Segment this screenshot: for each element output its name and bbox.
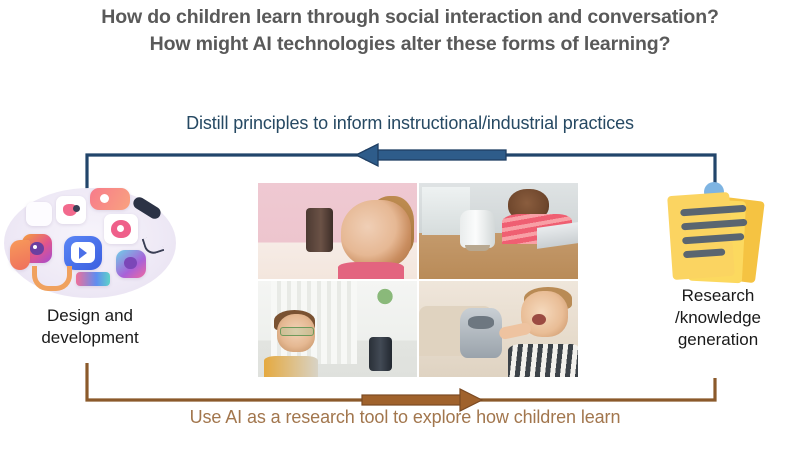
node-research-knowledge-generation[interactable] [660, 190, 768, 288]
app-tile-icon [10, 240, 30, 270]
note-page-front-icon [667, 192, 735, 280]
app-tile-icon [90, 188, 130, 210]
app-tile-icon [32, 266, 72, 291]
app-tile-icon [76, 272, 110, 286]
app-tile-icon [64, 236, 102, 270]
photo-toddler-with-toy-robot [419, 281, 578, 377]
left-caption-line-2: development [0, 327, 180, 349]
right-caption-line-2: /knowledge [648, 307, 788, 329]
smart-speaker-icon [369, 337, 391, 372]
photo-girl-with-smart-speaker [258, 183, 417, 279]
app-tile-icon [104, 214, 138, 244]
app-tile-icon [56, 196, 86, 224]
smart-speaker-icon [306, 208, 333, 252]
right-caption-line-3: generation [648, 329, 788, 351]
slide-canvas: How do children learn through social int… [0, 0, 800, 450]
left-caption-line-1: Design and [0, 305, 180, 327]
smart-speaker-icon [460, 210, 495, 248]
right-caption-line-1: Research [648, 285, 788, 307]
note-text-line [683, 248, 725, 258]
app-tile-icon [116, 250, 146, 278]
toy-robot-icon [460, 308, 501, 358]
photo-boy-with-glasses-and-speaker [258, 281, 417, 377]
center-photo-grid [258, 183, 578, 377]
node-research-knowledge-generation-label: Research /knowledge generation [648, 285, 788, 351]
glasses-icon [280, 327, 314, 336]
photo-woman-with-white-speaker [419, 183, 578, 279]
node-design-and-development[interactable] [4, 188, 176, 298]
app-tile-icon [26, 202, 52, 226]
node-design-and-development-label: Design and development [0, 305, 180, 349]
app-icon-collage-oval-icon [4, 188, 176, 298]
